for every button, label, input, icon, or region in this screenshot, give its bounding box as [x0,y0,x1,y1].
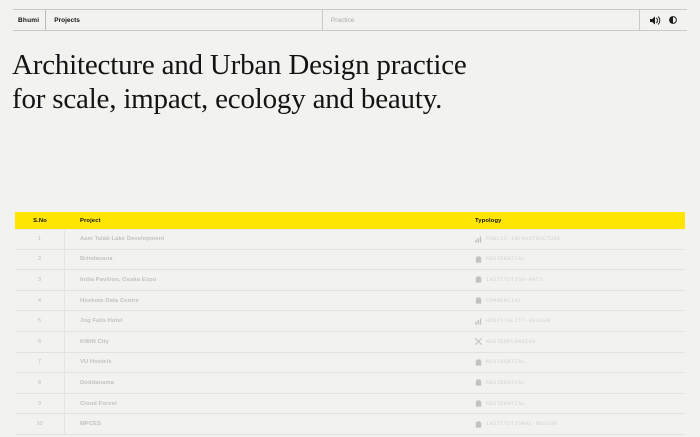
cell-typology: COMMERCIAL [470,291,685,311]
typology-label: RESIDENTIAL [486,359,525,365]
typology-label: INSTITUTION-ARTS [486,277,543,283]
typology-label: HOSPITALITY-DESIGN [486,318,550,324]
cell-project-name[interactable]: Cloud Forest [65,394,470,414]
headline-line-2: for scale, impact, ecology and beauty. [12,82,652,116]
table-row[interactable]: 10MPCESINSTITUTIONAL-DESIGN [15,414,685,435]
cell-sno: 1 [15,230,65,249]
cell-typology: RESIDENTIAL [470,250,685,270]
page-title: Architecture and Urban Design practice f… [12,48,652,116]
table-row[interactable]: 5Jog Falls HotelHOSPITALITY-DESIGN [15,311,685,332]
dark-mode-toggle-icon[interactable] [669,16,677,24]
page-root: Bhumi Projects Practice Architec [0,0,700,437]
cell-project-name[interactable]: MPCES [65,414,470,434]
cell-project-name[interactable]: Hoskote Data Centre [65,291,470,311]
chart-bar-icon [475,236,482,243]
typology-label: RESIDENTIAL [486,380,525,386]
building-icon [475,276,482,283]
cell-sno: 9 [15,394,65,414]
building-icon [475,297,482,304]
table-row[interactable]: 9Cloud ForestRESIDENTIAL [15,394,685,415]
site-header: Bhumi Projects Practice [13,9,687,31]
building-icon [475,256,482,263]
cell-typology: INSTITUTIONAL-DESIGN [470,414,685,434]
table-row[interactable]: 8DoddanamaRESIDENTIAL [15,373,685,394]
cell-typology: INSTITUTION-ARTS [470,270,685,290]
nav-item-projects[interactable]: Projects [46,10,88,30]
cell-typology: RESIDENTIAL [470,394,685,414]
speaker-icon[interactable] [649,15,662,26]
typology-label: RESIDENTIAL [486,256,525,262]
typology-label: PUBLIC-INFRASTRUCTURE [486,236,561,242]
cell-typology: MASTERPLANNING [470,332,685,352]
cell-sno: 2 [15,250,65,270]
brand-logo[interactable]: Bhumi [13,10,46,30]
compass-icon [475,338,482,345]
projects-table: S.No Project Typology 1Aam Talab Lake De… [15,212,685,435]
building-icon [475,421,482,428]
typology-label: INSTITUTIONAL-DESIGN [486,421,557,427]
building-icon [475,359,482,366]
cell-project-name[interactable]: Doddanama [65,373,470,393]
table-header-row: S.No Project Typology [15,212,685,229]
cell-sno: 6 [15,332,65,352]
typology-label: MASTERPLANNING [486,339,536,345]
header-icon-group [639,10,687,30]
cell-project-name[interactable]: India Pavilion, Osaka Expo [65,270,470,290]
table-row[interactable]: 7VU HostelsRESIDENTIAL [15,353,685,374]
table-row[interactable]: 1Aam Talab Lake DevelopmentPUBLIC-INFRAS… [15,229,685,250]
cell-project-name[interactable]: Aam Talab Lake Development [65,230,470,249]
cell-sno: 7 [15,353,65,373]
typology-label: COMMERCIAL [486,298,522,304]
cell-typology: RESIDENTIAL [470,353,685,373]
cell-sno: 8 [15,373,65,393]
table-row[interactable]: 4Hoskote Data CentreCOMMERCIAL [15,291,685,312]
cell-typology: PUBLIC-INFRASTRUCTURE [470,230,685,249]
cell-sno: 5 [15,311,65,331]
cell-sno: 3 [15,270,65,290]
nav-practice-cell[interactable]: Practice [322,10,639,30]
column-header-sno: S.No [15,218,65,224]
column-header-typology: Typology [470,218,685,224]
nav-item-practice: Practice [331,17,354,24]
cell-sno: 4 [15,291,65,311]
cell-project-name[interactable]: KWIN City [65,332,470,352]
building-icon [475,379,482,386]
cell-sno: 10 [15,414,65,434]
cell-typology: RESIDENTIAL [470,373,685,393]
headline-line-1: Architecture and Urban Design practice [12,49,467,81]
chart-bar-icon [475,318,482,325]
table-row[interactable]: 2BrindavanaRESIDENTIAL [15,250,685,271]
cell-project-name[interactable]: Brindavana [65,250,470,270]
table-body: 1Aam Talab Lake DevelopmentPUBLIC-INFRAS… [15,229,685,435]
header-spacer [88,10,322,30]
cell-typology: HOSPITALITY-DESIGN [470,311,685,331]
cell-project-name[interactable]: VU Hostels [65,353,470,373]
column-header-project: Project [65,218,470,224]
table-row[interactable]: 6KWIN CityMASTERPLANNING [15,332,685,353]
table-row[interactable]: 3India Pavilion, Osaka ExpoINSTITUTION-A… [15,270,685,291]
building-icon [475,400,482,407]
cell-project-name[interactable]: Jog Falls Hotel [65,311,470,331]
typology-label: RESIDENTIAL [486,401,525,407]
